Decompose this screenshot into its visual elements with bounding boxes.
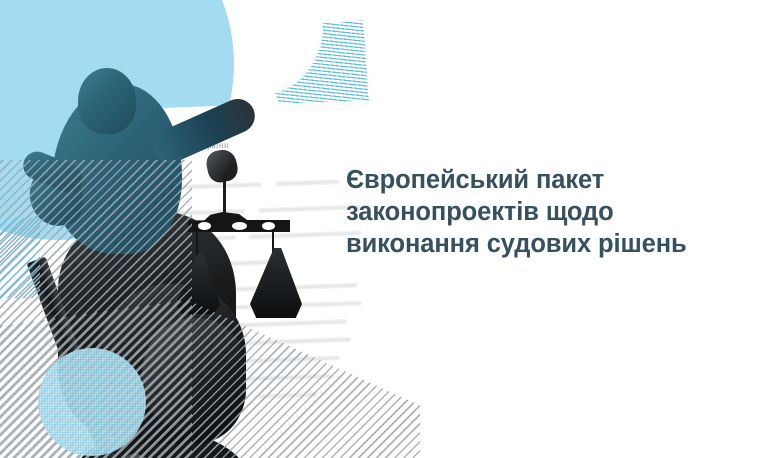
statue-right-arm [148, 94, 260, 169]
banner: країни [0, 0, 763, 458]
statue-head [78, 68, 136, 134]
scales-beam-hole [262, 222, 275, 230]
statue-fist [204, 147, 240, 185]
page-title: Європейський пакет законопроектів щодо в… [346, 164, 746, 260]
diagonal-blue-stripes [0, 218, 40, 298]
scales-pan-right [250, 248, 302, 318]
title-line-3: виконання судових рішень [346, 228, 746, 260]
dotted-blue-circle [38, 348, 146, 456]
scales-rod [223, 178, 226, 214]
scales-beam-hole [198, 222, 211, 230]
scales-beam-hole [232, 222, 247, 230]
title-line-1: Європейський пакет [346, 164, 746, 196]
title-line-2: законопроектів щодо [346, 196, 746, 228]
